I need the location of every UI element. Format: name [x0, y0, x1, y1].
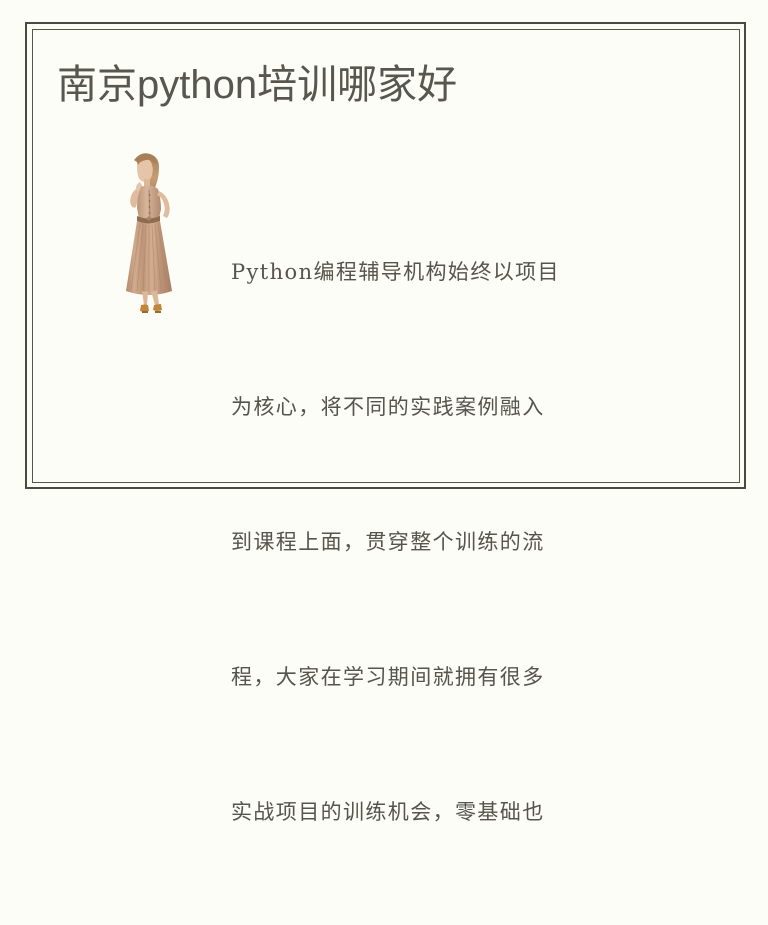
- body-line: 程，大家在学习期间就拥有很多: [231, 655, 651, 700]
- standing-woman-photo: [104, 146, 190, 324]
- body-line: 实战项目的训练机会，零基础也: [231, 790, 651, 835]
- body-line: Python编程辅导机构始终以项目: [231, 250, 651, 295]
- page-title: 南京python培训哪家好: [57, 62, 457, 108]
- article-body: Python编程辅导机构始终以项目 为核心，将不同的实践案例融入 到课程上面，贯…: [231, 160, 651, 925]
- article-card: 南京python培训哪家好: [0, 0, 768, 510]
- body-line: 到课程上面，贯穿整个训练的流: [231, 520, 651, 565]
- body-line: 为核心，将不同的实践案例融入: [231, 385, 651, 430]
